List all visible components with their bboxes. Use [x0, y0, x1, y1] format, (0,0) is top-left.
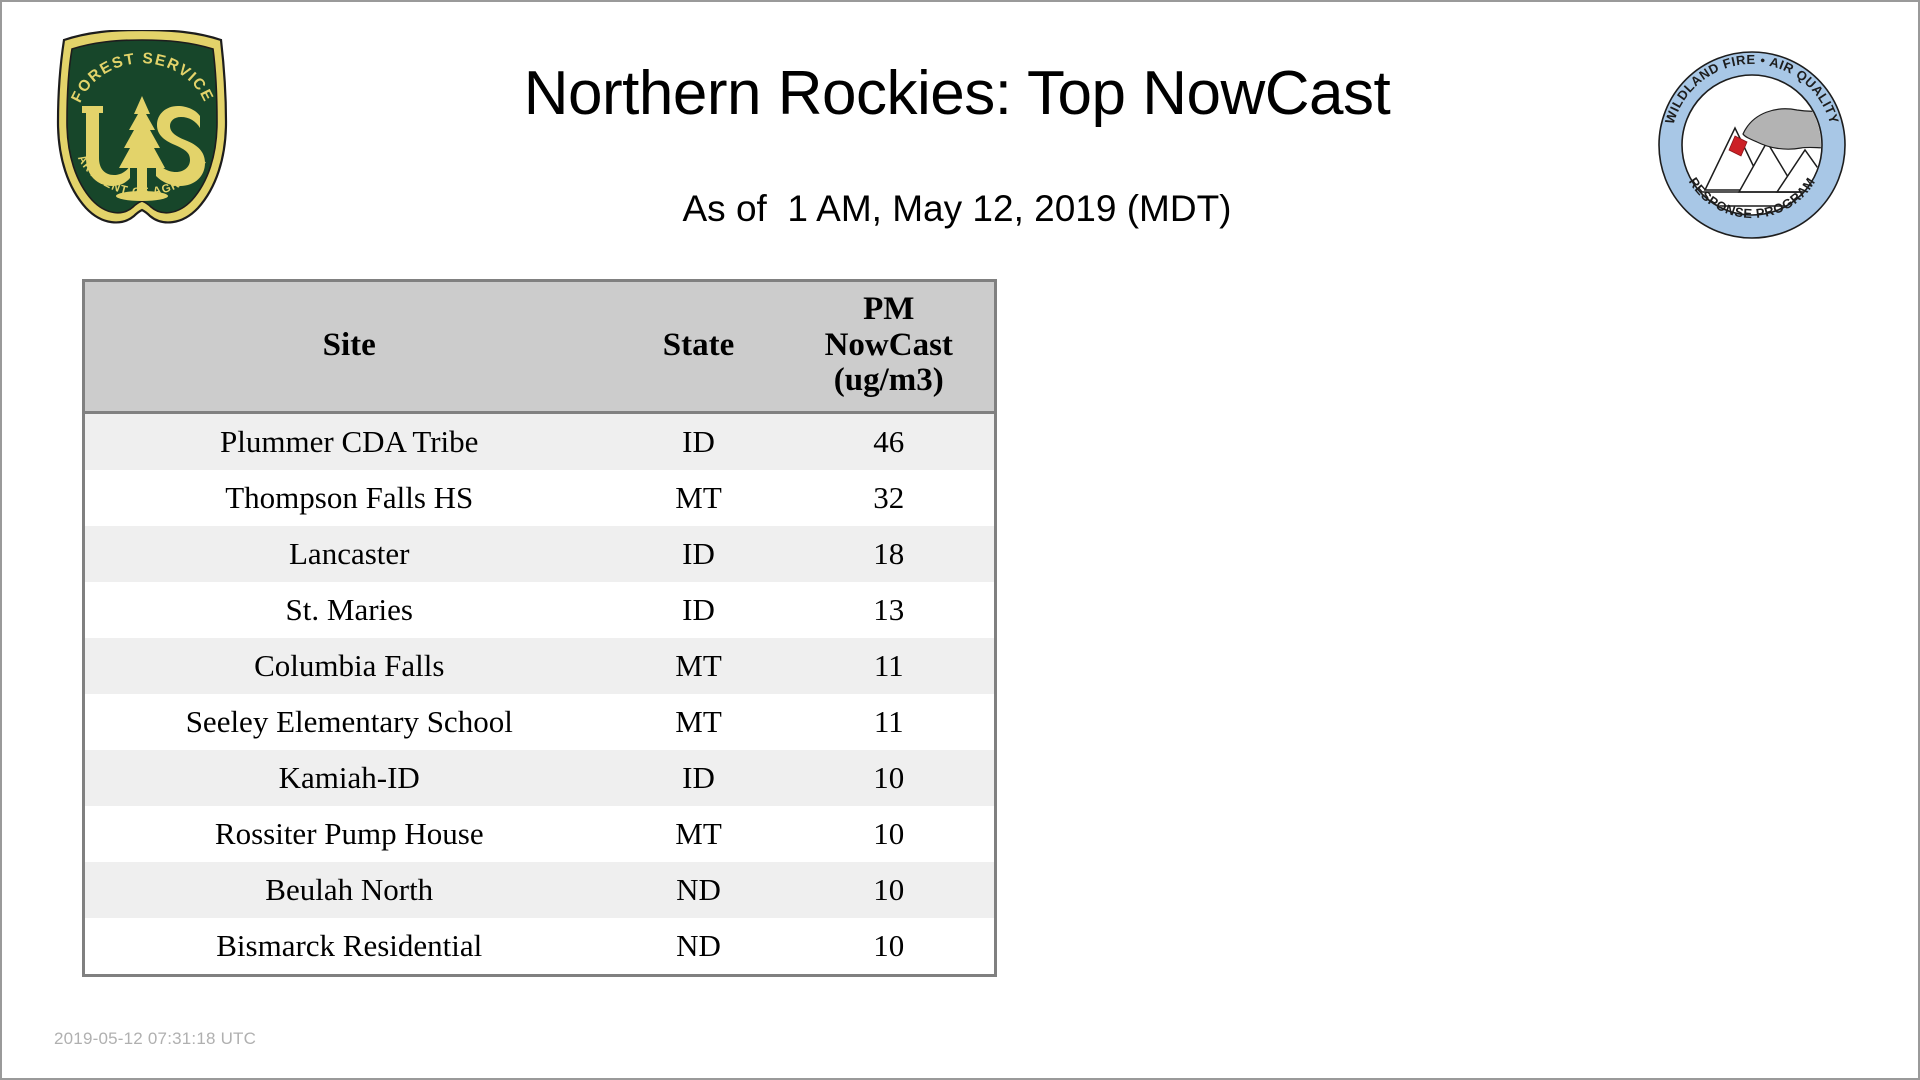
header-line: (ug/m3) [834, 362, 944, 398]
cell-site: Thompson Falls HS [84, 470, 614, 526]
cell-value: 10 [784, 750, 996, 806]
header-line: NowCast [825, 327, 953, 363]
cell-state: ND [614, 918, 784, 976]
table-row: Plummer CDA Tribe ID 46 [84, 412, 996, 470]
table-body: Plummer CDA Tribe ID 46 Thompson Falls H… [84, 412, 996, 975]
cell-state: ID [614, 582, 784, 638]
cell-state: ID [614, 412, 784, 470]
cell-value: 18 [784, 526, 996, 582]
table-row: Bismarck Residential ND 10 [84, 918, 996, 976]
table-row: Thompson Falls HS MT 32 [84, 470, 996, 526]
page-subtitle: As of 1 AM, May 12, 2019 (MDT) [262, 188, 1652, 230]
column-header-pm-nowcast: PM NowCast (ug/m3) [784, 281, 996, 413]
nowcast-table-container: Site State PM NowCast (ug/m3) Plummer CD… [82, 279, 994, 977]
cell-value: 13 [784, 582, 996, 638]
cell-site: Bismarck Residential [84, 918, 614, 976]
cell-state: MT [614, 470, 784, 526]
cell-site: Beulah North [84, 862, 614, 918]
footer-timestamp: 2019-05-12 07:31:18 UTC [54, 1029, 256, 1049]
cell-state: MT [614, 806, 784, 862]
cell-state: ID [614, 526, 784, 582]
page-root: FOREST SERVICE DEPARTMENT OF AGRICULTURE [0, 0, 1920, 1080]
cell-site: Columbia Falls [84, 638, 614, 694]
cell-value: 46 [784, 412, 996, 470]
table-row: Columbia Falls MT 11 [84, 638, 996, 694]
cell-site: Kamiah-ID [84, 750, 614, 806]
table-row: Seeley Elementary School MT 11 [84, 694, 996, 750]
cell-value: 11 [784, 638, 996, 694]
table-header-row: Site State PM NowCast (ug/m3) [84, 281, 996, 413]
table-row: Rossiter Pump House MT 10 [84, 806, 996, 862]
column-header-site: Site [84, 281, 614, 413]
usfs-shield-icon: FOREST SERVICE DEPARTMENT OF AGRICULTURE [50, 30, 235, 235]
table-row: Beulah North ND 10 [84, 862, 996, 918]
nowcast-table: Site State PM NowCast (ug/m3) Plummer CD… [82, 279, 997, 977]
cell-value: 10 [784, 806, 996, 862]
column-header-state: State [614, 281, 784, 413]
wildland-fire-air-quality-icon: WILDLAND FIRE • AIR QUALITY RESPONSE PRO… [1657, 50, 1847, 240]
header-line: State [663, 327, 734, 363]
header-line: Site [323, 327, 376, 363]
cell-site: St. Maries [84, 582, 614, 638]
cell-value: 11 [784, 694, 996, 750]
header-line: PM [863, 291, 914, 327]
table-row: St. Maries ID 13 [84, 582, 996, 638]
table-row: Lancaster ID 18 [84, 526, 996, 582]
table-row: Kamiah-ID ID 10 [84, 750, 996, 806]
cell-state: ID [614, 750, 784, 806]
cell-site: Plummer CDA Tribe [84, 412, 614, 470]
cell-site: Rossiter Pump House [84, 806, 614, 862]
cell-value: 10 [784, 862, 996, 918]
cell-state: MT [614, 638, 784, 694]
cell-value: 32 [784, 470, 996, 526]
cell-value: 10 [784, 918, 996, 976]
cell-site: Seeley Elementary School [84, 694, 614, 750]
cell-state: ND [614, 862, 784, 918]
cell-state: MT [614, 694, 784, 750]
page-title: Northern Rockies: Top NowCast [262, 58, 1652, 129]
cell-site: Lancaster [84, 526, 614, 582]
